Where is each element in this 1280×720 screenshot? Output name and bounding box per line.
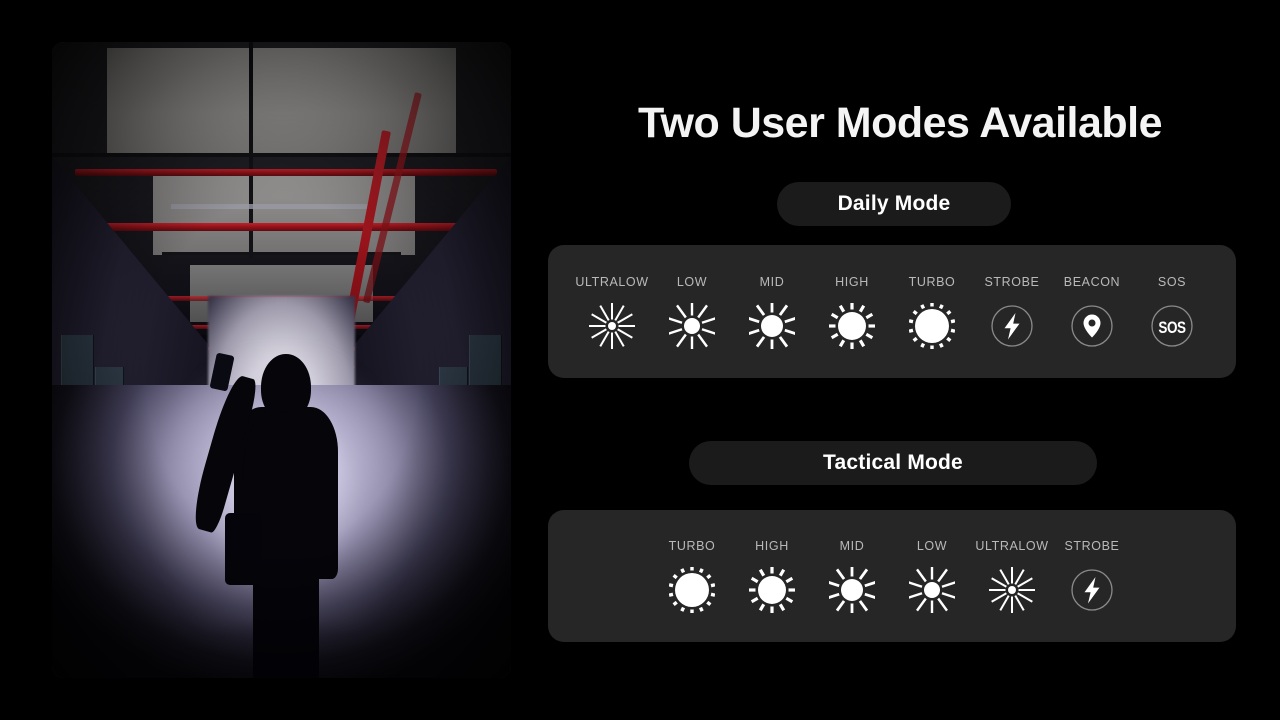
mode-label: BEACON — [1064, 275, 1120, 289]
daily-mode-button[interactable]: Daily Mode — [777, 182, 1011, 226]
mode-item[interactable]: HIGH — [732, 539, 812, 613]
mode-item[interactable]: ULTRALOW — [572, 275, 652, 349]
mode-label: TURBO — [669, 539, 716, 553]
sun-mid-icon — [829, 567, 875, 613]
mode-label: ULTRALOW — [975, 539, 1048, 553]
mode-label: SOS — [1158, 275, 1186, 289]
mode-label: LOW — [917, 539, 947, 553]
mode-label: MID — [760, 275, 785, 289]
mode-label: TURBO — [909, 275, 956, 289]
ceiling-light-fixture — [171, 204, 373, 209]
mode-label: HIGH — [835, 275, 869, 289]
sun-high-icon — [749, 567, 795, 613]
modes-content: Two User Modes Available Daily Mode ULTR… — [520, 0, 1280, 720]
sun-mid-icon — [749, 303, 795, 349]
mode-label: MID — [840, 539, 865, 553]
hero-photo — [52, 42, 511, 678]
mode-label: STROBE — [985, 275, 1040, 289]
mode-item[interactable]: STROBE — [1052, 539, 1132, 613]
strobe-bolt-icon — [1069, 567, 1115, 613]
mode-item[interactable]: TURBO — [652, 539, 732, 613]
sun-ultralow-icon — [989, 567, 1035, 613]
daily-mode-row: ULTRALOWLOWMIDHIGHTURBOSTROBEBEACONSOSSO… — [548, 245, 1236, 378]
mode-item[interactable]: TURBO — [892, 275, 972, 349]
slide-canvas: Two User Modes Available Daily Mode ULTR… — [0, 0, 1280, 720]
sun-turbo-icon — [669, 567, 715, 613]
sun-low-icon — [669, 303, 715, 349]
mode-item[interactable]: STROBE — [972, 275, 1052, 349]
sun-high-icon — [829, 303, 875, 349]
tactical-mode-button[interactable]: Tactical Mode — [689, 441, 1097, 485]
ceiling-beam-1 — [52, 153, 511, 157]
mode-item[interactable]: MID — [732, 275, 812, 349]
sos-icon: SOS — [1149, 303, 1195, 349]
corridor-photo-illustration — [52, 42, 511, 678]
svg-text:SOS: SOS — [1158, 318, 1186, 337]
sun-turbo-icon — [909, 303, 955, 349]
mode-item[interactable]: BEACON — [1052, 275, 1132, 349]
mode-item[interactable]: LOW — [652, 275, 732, 349]
mode-item[interactable]: MID — [812, 539, 892, 613]
red-pipe-1 — [75, 169, 497, 176]
beacon-pin-icon — [1069, 303, 1115, 349]
mode-item[interactable]: ULTRALOW — [972, 539, 1052, 613]
mode-label: LOW — [677, 275, 707, 289]
mode-label: ULTRALOW — [575, 275, 648, 289]
daily-mode-panel: ULTRALOWLOWMIDHIGHTURBOSTROBEBEACONSOSSO… — [548, 245, 1236, 378]
mode-label: STROBE — [1065, 539, 1120, 553]
mode-item[interactable]: SOSSOS — [1132, 275, 1212, 349]
mode-item[interactable]: HIGH — [812, 275, 892, 349]
sun-low-icon — [909, 567, 955, 613]
strobe-bolt-icon — [989, 303, 1035, 349]
mode-label: HIGH — [755, 539, 789, 553]
red-pipe-2 — [93, 223, 479, 231]
tactical-mode-panel: TURBOHIGHMIDLOWULTRALOWSTROBE — [548, 510, 1236, 642]
sun-ultralow-icon — [589, 303, 635, 349]
page-title: Two User Modes Available — [520, 100, 1280, 147]
person-silhouette — [217, 347, 355, 678]
tactical-mode-row: TURBOHIGHMIDLOWULTRALOWSTROBE — [548, 510, 1236, 642]
mode-item[interactable]: LOW — [892, 539, 972, 613]
legs — [253, 559, 319, 678]
